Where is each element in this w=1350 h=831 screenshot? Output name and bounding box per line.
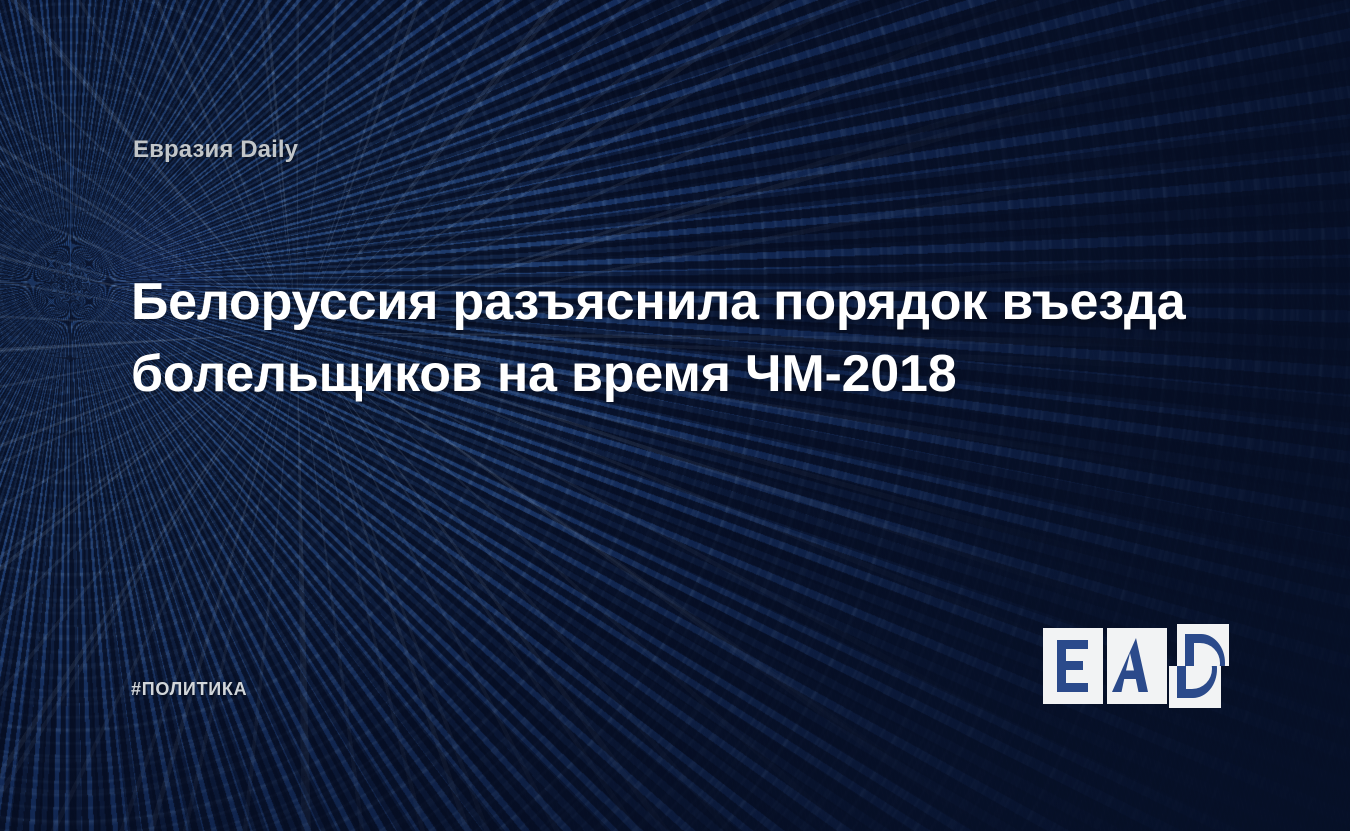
brand-name: Евразия Daily [133, 136, 298, 164]
card-content: Евразия Daily Белоруссия разъяснила поря… [0, 0, 1350, 831]
category-tag: #ПОЛИТИКА [131, 679, 247, 700]
page-title: Белоруссия разъяснила порядок въезда бол… [131, 266, 1241, 410]
news-share-card: Евразия Daily Белоруссия разъяснила поря… [0, 0, 1350, 831]
ead-logo [1043, 624, 1229, 708]
ead-logo-svg [1043, 624, 1229, 708]
